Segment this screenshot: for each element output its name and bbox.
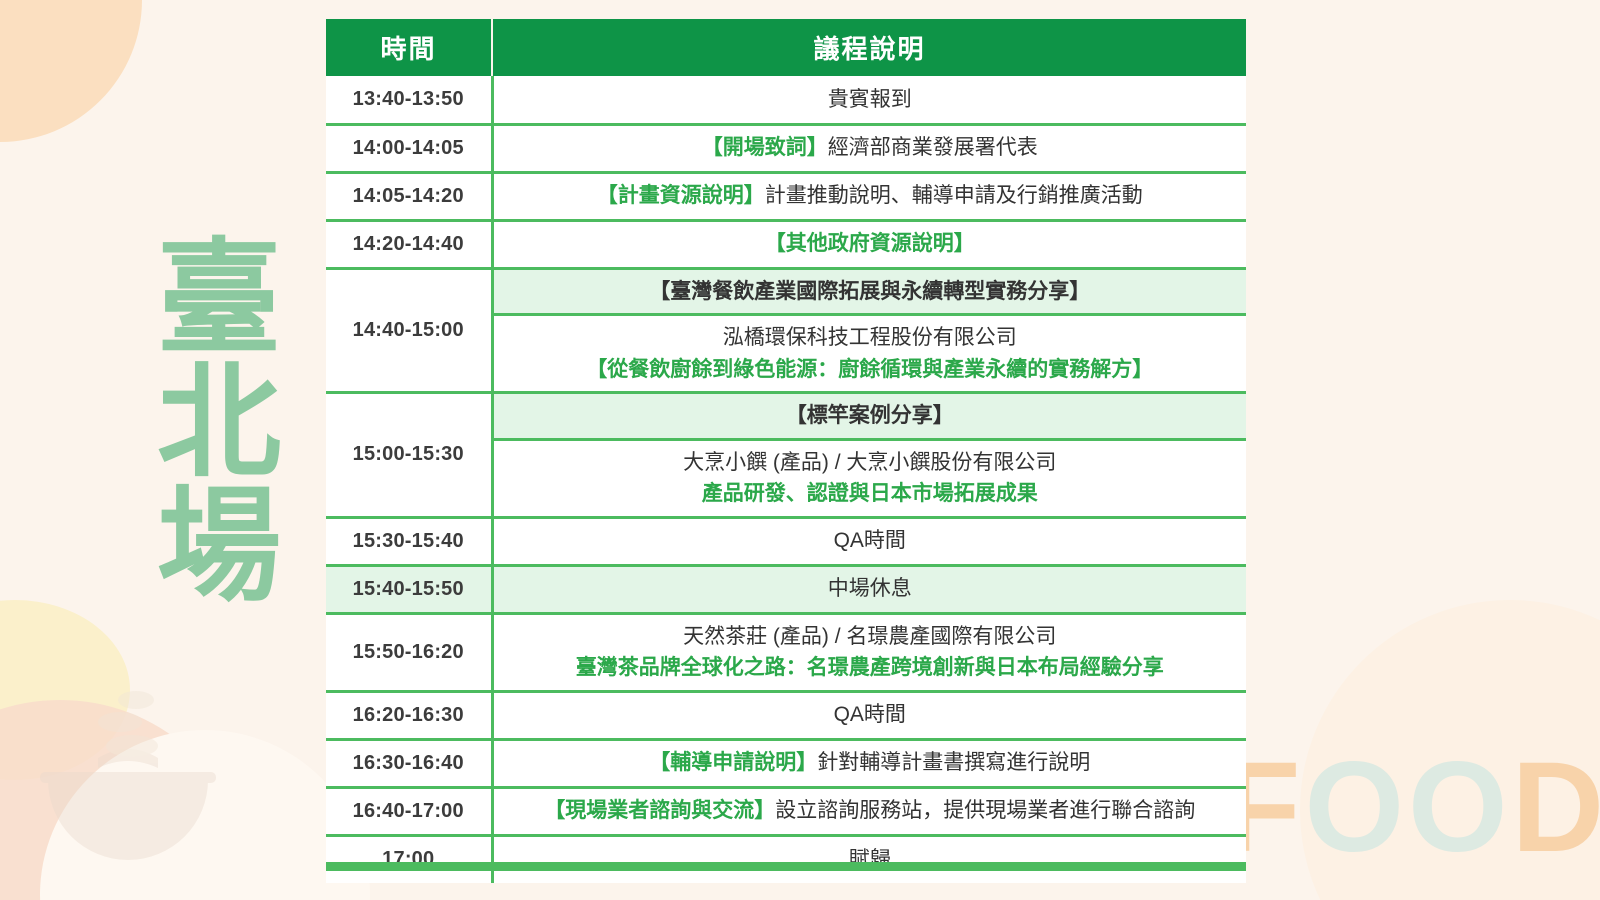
top-left-peach-shape <box>0 0 142 142</box>
cell-description: 【其他政府資源說明】 <box>492 220 1246 268</box>
cell-time: 14:00-14:05 <box>326 124 492 172</box>
session-title: 臺北場 <box>112 178 272 658</box>
table-row: 15:00-15:30 【標竿案例分享】 <box>326 393 1246 440</box>
cell-time: 16:30-16:40 <box>326 739 492 787</box>
desc-line-topic: 產品研發、認證與日本市場拓展成果 <box>502 478 1239 510</box>
cell-description: 大烹小饌 (產品) / 大烹小饌股份有限公司 產品研發、認證與日本市場拓展成果 <box>492 439 1246 517</box>
watermark-letter-o2: O <box>1408 736 1512 879</box>
table-row: 17:00 賦歸 <box>326 835 1246 883</box>
table-row: 15:50-16:20 天然茶莊 (產品) / 名璟農產國際有限公司 臺灣茶品牌… <box>326 613 1246 691</box>
desc-tag: 【計畫資源說明】 <box>597 184 765 207</box>
desc-text: QA時間 <box>834 703 906 726</box>
desc-tag: 【輔導申請說明】 <box>649 751 817 774</box>
desc-line-topic: 【從餐飲廚餘到綠色能源：廚餘循環與產業永續的實務解方】 <box>502 354 1239 386</box>
table-row: 16:30-16:40 【輔導申請說明】針對輔導計畫書撰寫進行說明 <box>326 739 1246 787</box>
cell-description: QA時間 <box>492 691 1246 739</box>
table-row: 13:40-13:50 貴賓報到 <box>326 76 1246 124</box>
desc-tag: 【現場業者諮詢與交流】 <box>544 799 775 822</box>
cell-time: 14:05-14:20 <box>326 172 492 220</box>
cell-description: 賦歸 <box>492 835 1246 883</box>
cell-section-heading: 【標竿案例分享】 <box>492 393 1246 440</box>
cell-description: 天然茶莊 (產品) / 名璟農產國際有限公司 臺灣茶品牌全球化之路：名璟農產跨境… <box>492 613 1246 691</box>
slide-canvas: FOOD 臺北場 時間 議程說明 13:40-13:50 貴賓報到 14:00-… <box>0 0 1600 900</box>
table-row: 14:20-14:40 【其他政府資源說明】 <box>326 220 1246 268</box>
desc-line-company: 天然茶莊 (產品) / 名璟農產國際有限公司 <box>502 621 1239 653</box>
desc-tag: 【其他政府資源說明】 <box>765 232 975 255</box>
table-row: 14:40-15:00 【臺灣餐飲產業國際拓展與永續轉型實務分享】 <box>326 268 1246 315</box>
desc-text: QA時間 <box>834 529 906 552</box>
cell-description: 【開場致詞】經濟部商業發展署代表 <box>492 124 1246 172</box>
table-row: 16:20-16:30 QA時間 <box>326 691 1246 739</box>
cell-time: 15:50-16:20 <box>326 613 492 691</box>
cell-time: 14:20-14:40 <box>326 220 492 268</box>
cell-time: 15:00-15:30 <box>326 393 492 518</box>
table-row: 14:05-14:20 【計畫資源說明】計畫推動說明、輔導申請及行銷推廣活動 <box>326 172 1246 220</box>
cell-time: 17:00 <box>326 835 492 883</box>
cell-time: 15:40-15:50 <box>326 565 492 613</box>
desc-line-topic: 臺灣茶品牌全球化之路：名璟農產跨境創新與日本布局經驗分享 <box>502 652 1239 684</box>
table-header-row: 時間 議程說明 <box>326 19 1246 76</box>
table-row: 14:00-14:05 【開場致詞】經濟部商業發展署代表 <box>326 124 1246 172</box>
cell-description: 貴賓報到 <box>492 76 1246 124</box>
table-row: 15:30-15:40 QA時間 <box>326 517 1246 565</box>
desc-text: 針對輔導計畫書撰寫進行說明 <box>817 751 1090 774</box>
table-row-break: 15:40-15:50 中場休息 <box>326 565 1246 613</box>
steaming-bowl-icon <box>28 680 228 890</box>
cell-description: 泓橋環保科技工程股份有限公司 【從餐飲廚餘到綠色能源：廚餘循環與產業永續的實務解… <box>492 315 1246 393</box>
desc-text: 計畫推動說明、輔導申請及行銷推廣活動 <box>765 184 1143 207</box>
cell-section-heading: 【臺灣餐飲產業國際拓展與永續轉型實務分享】 <box>492 268 1246 315</box>
desc-text: 設立諮詢服務站，提供現場業者進行聯合諮詢 <box>775 799 1195 822</box>
table-row: 16:40-17:00 【現場業者諮詢與交流】設立諮詢服務站，提供現場業者進行聯… <box>326 787 1246 835</box>
desc-tag: 【開場致詞】 <box>702 136 828 159</box>
cell-time: 15:30-15:40 <box>326 517 492 565</box>
desc-text: 經濟部商業發展署代表 <box>828 136 1038 159</box>
column-header-time: 時間 <box>326 19 492 76</box>
cell-description: 中場休息 <box>492 565 1246 613</box>
watermark-letter-d: D <box>1512 736 1600 879</box>
cell-time: 16:20-16:30 <box>326 691 492 739</box>
cell-description: QA時間 <box>492 517 1246 565</box>
food-watermark: FOOD <box>1222 744 1600 872</box>
cell-description: 【現場業者諮詢與交流】設立諮詢服務站，提供現場業者進行聯合諮詢 <box>492 787 1246 835</box>
cell-time: 14:40-15:00 <box>326 268 492 393</box>
cell-time: 13:40-13:50 <box>326 76 492 124</box>
table-bottom-bar <box>326 862 1246 871</box>
column-header-description: 議程說明 <box>492 19 1246 76</box>
desc-line-company: 大烹小饌 (產品) / 大烹小饌股份有限公司 <box>502 447 1239 479</box>
watermark-letter-o1: O <box>1304 736 1408 879</box>
cell-description: 【輔導申請說明】針對輔導計畫書撰寫進行說明 <box>492 739 1246 787</box>
cell-description: 【計畫資源說明】計畫推動說明、輔導申請及行銷推廣活動 <box>492 172 1246 220</box>
desc-line-company: 泓橋環保科技工程股份有限公司 <box>502 322 1239 354</box>
cell-time: 16:40-17:00 <box>326 787 492 835</box>
desc-text: 中場休息 <box>828 577 912 600</box>
desc-text: 貴賓報到 <box>828 88 912 111</box>
agenda-table: 時間 議程說明 13:40-13:50 貴賓報到 14:00-14:05 【開場… <box>326 19 1246 883</box>
